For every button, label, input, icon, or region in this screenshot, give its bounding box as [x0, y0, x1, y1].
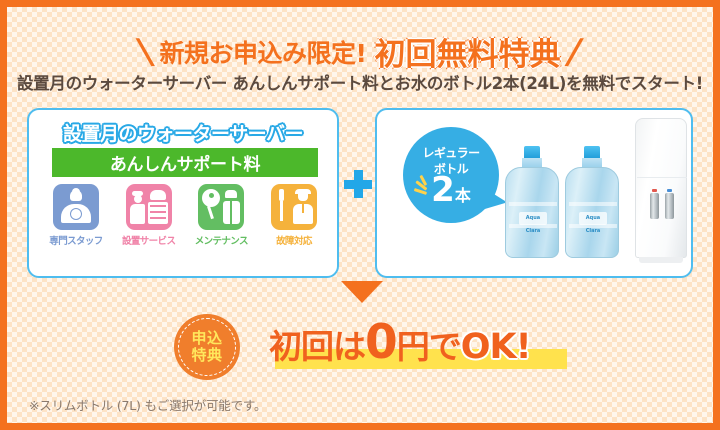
bottle-label: Aqua Clara [579, 212, 607, 225]
offer-part2: 円で [397, 327, 461, 366]
headline-emphasis-text: 初回無料特典 [374, 29, 560, 74]
sparkle-icon [412, 179, 434, 201]
offer-cards: 設置月のウォーターサーバー あんしんサポート料 専門スタッフ [27, 108, 693, 278]
bubble-line1: レギュラー [403, 144, 499, 161]
support-fee-label: あんしんサポート料 [110, 150, 260, 175]
feature-label-maintenance: メンテナンス [186, 233, 256, 247]
bottle-label: Aqua Clara [519, 212, 547, 225]
service-card: 設置月のウォーターサーバー あんしんサポート料 専門スタッフ [27, 108, 339, 278]
bubble-count-unit: 本 [455, 186, 471, 205]
feature-item-install: 設置サービス [114, 184, 184, 247]
bottle-body: Aqua Clara [505, 167, 559, 258]
water-bottle-icon: Aqua Clara [565, 146, 619, 258]
down-arrow-icon [341, 281, 383, 303]
subtitle-text: 設置月のウォーターサーバー あんしんサポート料とお水のボトル2本(24L)を無料… [7, 70, 713, 94]
server-body [635, 118, 687, 258]
bottles-card: レギュラー ボトル 2本 Aqua Clara [375, 108, 693, 278]
feature-label-staff: 専門スタッフ [41, 233, 111, 247]
offer-part1: 初回は [269, 327, 365, 366]
feature-item-repair: 故障対応 [259, 184, 329, 247]
slash-right-decoration: / [564, 35, 585, 69]
cold-indicator [667, 189, 672, 192]
cold-water-tap [665, 193, 674, 219]
badge-line2: 特典 [191, 347, 222, 364]
maintenance-check-icon [198, 184, 244, 230]
badge-line1: 申込 [191, 330, 222, 347]
feature-label-install: 設置サービス [114, 233, 184, 247]
hot-water-tap [650, 193, 659, 219]
delivery-install-icon [126, 184, 172, 230]
offer-amount: 0 [365, 315, 397, 370]
water-bottle-icon: Aqua Clara [505, 146, 559, 258]
feature-icon-row: 専門スタッフ 設置サービス [41, 184, 329, 247]
application-bonus-badge: 申込 特典 [174, 314, 240, 380]
offer-text: 初回は0円でOK! [269, 317, 579, 379]
headline: \ 新規お申込み限定! 初回無料特典 / [7, 29, 713, 74]
offer-statement: 初回は0円でOK! [269, 317, 579, 375]
headline-lead-text: 新規お申込み限定! [160, 34, 367, 70]
server-foot [639, 257, 683, 263]
staff-person-icon [53, 184, 99, 230]
offer-ok-text: OK! [461, 327, 531, 367]
server-seam [637, 177, 687, 178]
repair-worker-icon [271, 184, 317, 230]
support-fee-bar: あんしんサポート料 [52, 148, 318, 177]
service-card-title: 設置月のウォーターサーバー [29, 119, 337, 146]
water-bottles-group: Aqua Clara Aqua Clara [505, 146, 625, 258]
feature-label-repair: 故障対応 [259, 233, 329, 247]
hot-indicator [652, 189, 657, 192]
promo-banner: \ 新規お申込み限定! 初回無料特典 / 設置月のウォーターサーバー あんしんサ… [0, 0, 720, 430]
footnote-text: ※スリムボトル (7L) もご選択が可能です。 [29, 395, 266, 414]
slash-left-decoration: \ [135, 35, 156, 69]
bottle-body: Aqua Clara [565, 167, 619, 258]
bubble-count-number: 2 [431, 170, 455, 210]
server-logo [652, 159, 672, 166]
water-server-image [635, 118, 687, 266]
feature-item-maintenance: メンテナンス [186, 184, 256, 247]
feature-item-staff: 専門スタッフ [41, 184, 111, 247]
plus-icon [344, 170, 372, 198]
